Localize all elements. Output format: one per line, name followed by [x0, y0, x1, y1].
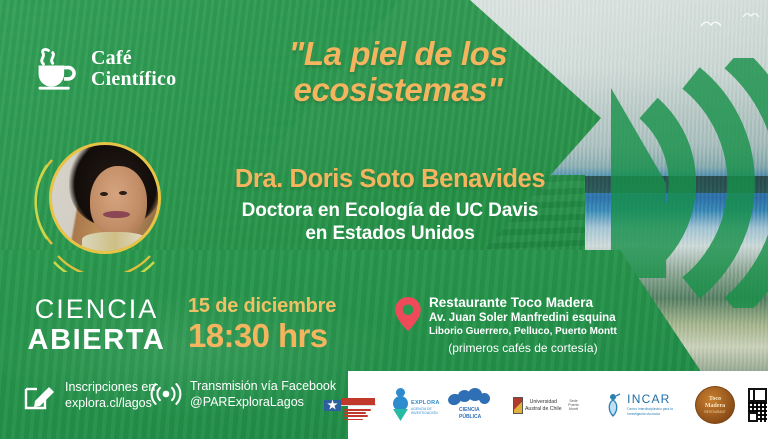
incar-text: INCAR Centro Interdisciplinario para laI… [627, 393, 673, 416]
sponsor-logo-explora: EXPLORA AGENCIA DEINVESTIGACIÓN [389, 388, 435, 422]
brand-line-2: Científico [91, 68, 176, 90]
pencil-form-icon [22, 378, 56, 412]
speaker-role-line-1: Doctora en Ecología de UC Davis [242, 200, 539, 221]
venue-name: Restaurante Toco Madera [429, 295, 617, 311]
uach-shield-icon [513, 397, 523, 414]
signup-block[interactable]: Inscripciones en: explora.cl/lagos [22, 378, 159, 412]
toco-title: Toco Madera [705, 396, 725, 410]
event-time: 18:30 hrs [188, 318, 368, 354]
toco-line-2: Madera [705, 403, 725, 409]
uach-subtitle: Sede Puerto Montt [564, 399, 583, 411]
sponsor-logo-uach: Universidad Austral de Chile Sede Puerto… [513, 387, 583, 423]
ministerio-text-lines [344, 409, 371, 422]
venue-block: Restaurante Toco Madera Av. Juan Soler M… [395, 295, 617, 357]
event-headline: "La piel de los ecosistemas" [228, 36, 568, 109]
speaker-role: Doctora en Ecología de UC Davis en Estad… [190, 199, 590, 245]
toco-line-1: Toco [709, 396, 721, 402]
broadcast-line-1: Transmisión vía Facebook [190, 378, 336, 394]
venue-text: Restaurante Toco Madera Av. Juan Soler M… [429, 295, 617, 357]
speaker-photo [49, 142, 161, 254]
location-pin-icon [395, 297, 421, 331]
ministerio-bottom-bar [341, 398, 375, 405]
signup-line-1: Inscripciones en: [65, 379, 159, 395]
explora-triangle [393, 409, 408, 421]
broadcast-icon [150, 378, 182, 410]
brand-text: Café Científico [91, 48, 176, 90]
uach-title: Universidad Austral de Chile [523, 399, 564, 413]
incar-title: INCAR [627, 393, 673, 405]
broadcast-block[interactable]: Transmisión vía Facebook @PARExploraLago… [150, 378, 336, 410]
star-icon [327, 400, 338, 411]
incar-subtitle: Centro Interdisciplinario para laInvesti… [627, 407, 673, 417]
sponsor-bar: EXPLORA AGENCIA DEINVESTIGACIÓN CIENCIA … [348, 371, 768, 439]
venue-address-line-2: Liborio Guerrero, Pelluco, Puerto Montt [429, 326, 617, 339]
venue-address-line-1: Av. Juan Soler Manfredini esquina [429, 311, 617, 325]
coffee-cup-icon [34, 47, 80, 91]
ciencia-line-2: ABIERTA [0, 324, 193, 356]
avatar [40, 138, 168, 266]
poster-canvas: Café Científico "La piel de los ecosiste… [0, 0, 768, 439]
sponsor-qr-code[interactable]: ESCANEA LA CARTA ACÁ [748, 383, 768, 427]
venue-note: (primeros cafés de cortesía) [429, 341, 617, 357]
sponsor-logo-ciencia-publica: CIENCIA PÚBLICA [448, 388, 500, 422]
bird-icon [742, 10, 760, 19]
ciencia-abierta-block: CIENCIA ABIERTA [0, 294, 193, 357]
broadcast-line-2[interactable]: @PARExploraLagos [190, 394, 336, 410]
speaker-block: Dra. Doris Soto Benavides Doctora en Eco… [190, 165, 590, 245]
explora-subtitle: AGENCIA DEINVESTIGACIÓN [411, 407, 438, 416]
explora-title: EXPLORA [411, 400, 440, 406]
ciencia-line-1: CIENCIA [0, 294, 193, 324]
sponsor-logo-ministerio-ciencia [324, 390, 376, 420]
cienciapublica-blob-4 [479, 393, 490, 404]
shirt [82, 232, 148, 251]
broadcast-text: Transmisión vía Facebook @PARExploraLago… [190, 378, 336, 410]
explora-dot-large [393, 396, 408, 411]
event-date: 15 de diciembre [188, 295, 368, 318]
ministerio-text-block [341, 404, 376, 406]
cienciapublica-line-2: PÚBLICA [459, 414, 481, 420]
cienciapublica-line-1: CIENCIA [459, 407, 480, 413]
brand-line-1: Café [91, 47, 132, 69]
incar-bird-icon [605, 392, 623, 418]
speaker-role-line-2: en Estados Unidos [305, 223, 474, 244]
qr-code-icon[interactable] [748, 388, 767, 422]
cienciapublica-text: CIENCIA PÚBLICA [459, 407, 481, 420]
brand-logo: Café Científico [34, 47, 176, 91]
sponsor-logo-toco-madera: Toco Madera RESTAURANT [695, 386, 735, 424]
eye-right [119, 191, 127, 195]
speaker-name: Dra. Doris Soto Benavides [190, 165, 590, 193]
signup-text: Inscripciones en: explora.cl/lagos [65, 379, 159, 411]
event-date-block: 15 de diciembre 18:30 hrs [188, 295, 368, 354]
signup-line-2[interactable]: explora.cl/lagos [65, 395, 159, 411]
bird-icon [700, 18, 722, 28]
toco-subtitle: RESTAURANT [704, 410, 725, 414]
sponsor-logo-incar: INCAR Centro Interdisciplinario para laI… [596, 390, 682, 420]
ministerio-flag-block [324, 400, 341, 411]
eye-left [100, 192, 108, 196]
